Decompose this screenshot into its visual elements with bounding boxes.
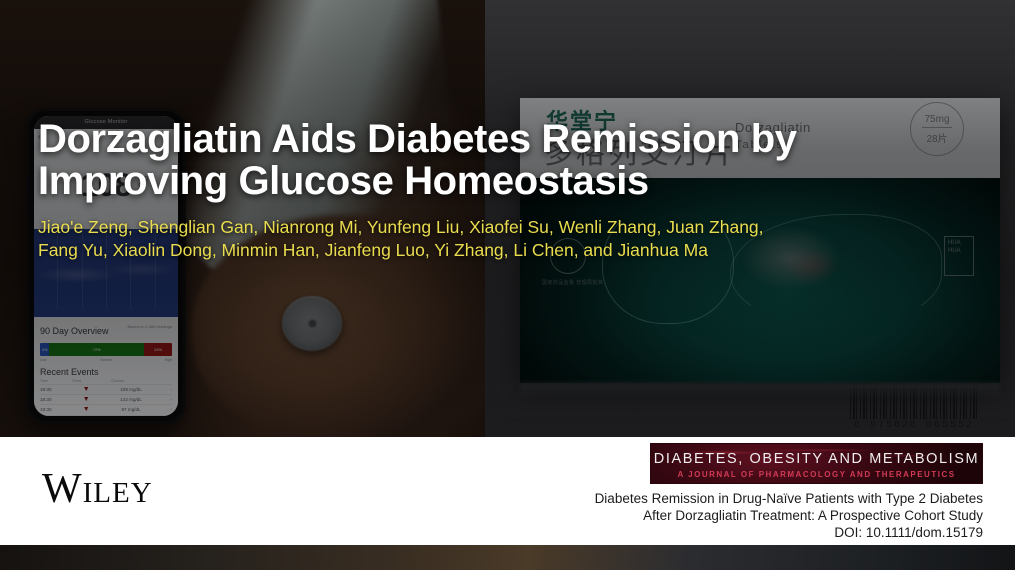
doi-text[interactable]: DOI: 10.1111/dom.15179 bbox=[595, 524, 983, 541]
hero-text-block: Dorzagliatin Aids Diabetes Remission by … bbox=[38, 118, 798, 262]
article-reference: Diabetes Remission in Drug-Naïve Patient… bbox=[595, 490, 983, 541]
author-list: Jiao'e Zeng, Shenglian Gan, Nianrong Mi,… bbox=[38, 216, 798, 262]
journal-title: DIABETES, OBESITY AND METABOLISM bbox=[651, 451, 982, 467]
page-title: Dorzagliatin Aids Diabetes Remission by … bbox=[38, 118, 798, 202]
article-title-slide: Glucose Monitor ‹ 108 mg dL bbox=[0, 0, 1015, 570]
hero-banner: Glucose Monitor ‹ 108 mg dL bbox=[0, 0, 1015, 437]
bottom-photo-strip bbox=[0, 545, 1015, 570]
journal-subtitle: A JOURNAL OF PHARMACOLOGY AND THERAPEUTI… bbox=[651, 470, 982, 479]
journal-badge[interactable]: DIABETES, OBESITY AND METABOLISM A JOURN… bbox=[650, 443, 983, 484]
article-title-line2: After Dorzagliatin Treatment: A Prospect… bbox=[595, 507, 983, 524]
article-title-line1: Diabetes Remission in Drug-Naïve Patient… bbox=[595, 490, 983, 507]
wiley-logo[interactable]: Wiley bbox=[42, 468, 153, 510]
